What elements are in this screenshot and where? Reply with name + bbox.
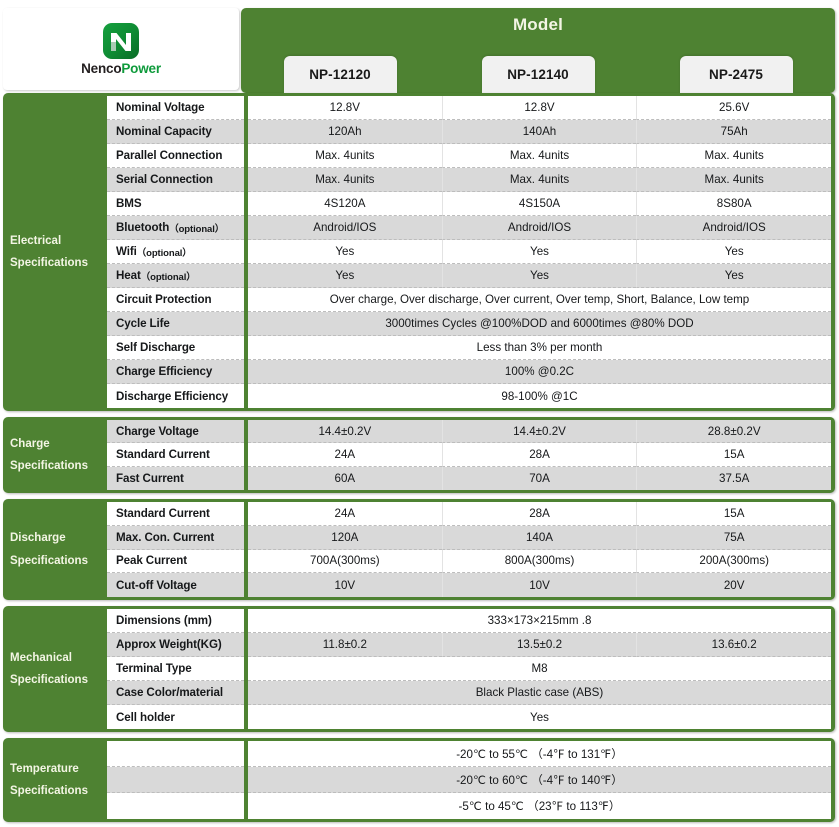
value-panel: 700A(300ms)800A(300ms)200A(300ms): [248, 550, 831, 574]
row-value-1: 140Ah: [442, 120, 637, 144]
spec-table: Standard Current24A28A15AMax. Con. Curre…: [107, 502, 831, 597]
spec-table: Nominal Voltage12.8V12.8V25.6VNominal Ca…: [107, 96, 831, 408]
row-label: Max. Con. Current: [107, 526, 244, 550]
row-value-1: 12.8V: [442, 96, 637, 120]
row-value-0: 700A(300ms): [248, 550, 442, 574]
row-label: Parallel Connection: [107, 144, 244, 168]
value-panel: YesYesYes: [248, 240, 831, 264]
row-label: [107, 793, 244, 819]
row-value-0: 4S120A: [248, 192, 442, 216]
row-label: Peak Current: [107, 550, 244, 574]
brand-name-part1: Nenco: [81, 61, 121, 76]
table-row: Standard Current24A28A15A: [107, 443, 831, 466]
row-value-merged: 333×173×215mm .8: [248, 609, 831, 633]
row-value-2: 200A(300ms): [636, 550, 831, 574]
section-label-line2: Specifications: [10, 669, 88, 691]
row-value-merged: -5℃ to 45℃ （23℉ to 113℉）: [248, 793, 831, 819]
spellcheck-underline: Wifi: [116, 245, 137, 258]
table-row: Peak Current700A(300ms)800A(300ms)200A(3…: [107, 550, 831, 574]
section-label-electrical: ElectricalSpecifications: [3, 93, 107, 411]
section-label-line1: Charge: [10, 433, 50, 455]
table-row: Parallel ConnectionMax. 4unitsMax. 4unit…: [107, 144, 831, 168]
row-label: Cell holder: [107, 705, 244, 729]
table-row: Serial ConnectionMax. 4unitsMax. 4unitsM…: [107, 168, 831, 192]
row-label: Cycle Life: [107, 312, 244, 336]
table-row: Fast Current60A70A37.5A: [107, 467, 831, 490]
row-value-1: 28A: [442, 443, 637, 466]
brand-name-part2: Power: [121, 61, 161, 76]
value-panel: Less than 3% per month: [248, 336, 831, 360]
row-label: Serial Connection: [107, 168, 244, 192]
row-value-0: 11.8±0.2: [248, 633, 442, 657]
section-label-mechanical: MechanicalSpecifications: [3, 606, 107, 732]
section-temperature: TemperatureSpecifications-20℃ to 55℃ （-4…: [3, 738, 835, 822]
value-panel: Black Plastic case (ABS): [248, 681, 831, 705]
row-label: Terminal Type: [107, 657, 244, 681]
row-label: Nominal Voltage: [107, 96, 244, 120]
row-value-1: 13.5±0.2: [442, 633, 637, 657]
section-charge: ChargeSpecificationsCharge Voltage14.4±0…: [3, 417, 835, 493]
value-panel: YesYesYes: [248, 264, 831, 288]
value-panel: 4S120A4S150A8S80A: [248, 192, 831, 216]
table-row: Approx Weight(KG)11.8±0.213.5±0.213.6±0.…: [107, 633, 831, 657]
row-value-1: 28A: [442, 502, 637, 526]
table-row: Self DischargeLess than 3% per month: [107, 336, 831, 360]
value-panel: 24A28A15A: [248, 502, 831, 526]
table-row: Max. Con. Current120A140A75A: [107, 526, 831, 550]
row-value-0: 120A: [248, 526, 442, 550]
value-panel: Max. 4unitsMax. 4unitsMax. 4units: [248, 144, 831, 168]
section-label-charge: ChargeSpecifications: [3, 417, 107, 493]
table-row: Discharge Efficiency98-100% @1C: [107, 384, 831, 408]
row-value-2: 25.6V: [636, 96, 831, 120]
row-value-1: 140A: [442, 526, 637, 550]
row-value-0: 10V: [248, 573, 442, 597]
value-panel: 14.4±0.2V14.4±0.2V28.8±0.2V: [248, 420, 831, 443]
row-value-1: 4S150A: [442, 192, 637, 216]
row-label: Circuit Protection: [107, 288, 244, 312]
row-value-1: 10V: [442, 573, 637, 597]
model-header-block: Model NP-12120 NP-12140 NP-2475: [241, 8, 835, 93]
row-label: [107, 741, 244, 767]
table-row: Charge Efficiency100% @0.2C: [107, 360, 831, 384]
value-panel: -20℃ to 55℃ （-4℉ to 131℉）: [248, 741, 831, 767]
row-label: Heat（optional）: [107, 264, 244, 288]
row-value-2: Yes: [636, 240, 831, 264]
row-label: BMS: [107, 192, 244, 216]
table-row: Circuit ProtectionOver charge, Over disc…: [107, 288, 831, 312]
value-panel: Android/IOSAndroid/IOSAndroid/IOS: [248, 216, 831, 240]
table-row: Dimensions (mm)333×173×215mm .8: [107, 609, 831, 633]
section-label-line1: Electrical: [10, 230, 61, 252]
row-value-merged: Yes: [248, 705, 831, 729]
row-value-merged: Less than 3% per month: [248, 336, 831, 360]
table-row: Case Color/materialBlack Plastic case (A…: [107, 681, 831, 705]
row-value-0: 12.8V: [248, 96, 442, 120]
section-label-temperature: TemperatureSpecifications: [3, 738, 107, 822]
section-label-line2: Specifications: [10, 455, 88, 477]
row-value-1: 14.4±0.2V: [442, 420, 637, 443]
nenco-n-logo-icon: [102, 22, 140, 60]
section-label-line2: Specifications: [10, 252, 88, 274]
row-value-2: 28.8±0.2V: [636, 420, 831, 443]
row-label: Dimensions (mm): [107, 609, 244, 633]
table-row: -20℃ to 55℃ （-4℉ to 131℉）: [107, 741, 831, 767]
table-row: Terminal TypeM8: [107, 657, 831, 681]
row-value-2: 8S80A: [636, 192, 831, 216]
table-row: Cell holderYes: [107, 705, 831, 729]
row-label: Standard Current: [107, 502, 244, 526]
value-panel: Max. 4unitsMax. 4unitsMax. 4units: [248, 168, 831, 192]
row-value-merged: -20℃ to 55℃ （-4℉ to 131℉）: [248, 741, 831, 767]
row-value-merged: M8: [248, 657, 831, 681]
table-row: -20℃ to 60℃ （-4℉ to 140℉）: [107, 767, 831, 793]
table-row: Cut-off Voltage10V10V20V: [107, 573, 831, 597]
row-label: Charge Efficiency: [107, 360, 244, 384]
row-value-1: 70A: [442, 467, 637, 490]
row-value-0: Max. 4units: [248, 168, 442, 192]
table-row: Cycle Life3000times Cycles @100%DOD and …: [107, 312, 831, 336]
row-label-text: Bluetooth: [116, 221, 169, 234]
row-value-0: 24A: [248, 443, 442, 466]
value-panel: Yes: [248, 705, 831, 729]
row-value-1: 800A(300ms): [442, 550, 637, 574]
value-panel: 120Ah140Ah75Ah: [248, 120, 831, 144]
table-row: Wifi （optional）YesYesYes: [107, 240, 831, 264]
brand-wordmark: NencoPower: [81, 61, 161, 76]
row-value-0: 60A: [248, 467, 442, 490]
value-panel: 60A70A37.5A: [248, 467, 831, 490]
table-row: Nominal Voltage12.8V12.8V25.6V: [107, 96, 831, 120]
section-label-line1: Temperature: [10, 758, 79, 780]
row-value-2: Max. 4units: [636, 144, 831, 168]
row-value-0: Android/IOS: [248, 216, 442, 240]
section-label-line2: Specifications: [10, 780, 88, 802]
row-label-optional-note: （optional）: [141, 269, 196, 283]
row-label-optional-note: （optional）: [169, 221, 224, 235]
row-label: Discharge Efficiency: [107, 384, 244, 408]
row-value-merged: 98-100% @1C: [248, 384, 831, 408]
section-label-line2: Specifications: [10, 550, 88, 572]
spec-sheet: NencoPower Model NP-12120 NP-12140 NP-24…: [0, 0, 839, 827]
value-panel: 12.8V12.8V25.6V: [248, 96, 831, 120]
value-panel: 10V10V20V: [248, 573, 831, 597]
brand-logo-box: NencoPower: [3, 8, 239, 90]
row-value-0: Yes: [248, 240, 442, 264]
row-value-2: Yes: [636, 264, 831, 288]
table-row: Heat（optional）YesYesYes: [107, 264, 831, 288]
row-value-1: Max. 4units: [442, 144, 637, 168]
table-row: Bluetooth（optional）Android/IOSAndroid/IO…: [107, 216, 831, 240]
row-label: Bluetooth（optional）: [107, 216, 244, 240]
value-panel: 100% @0.2C: [248, 360, 831, 384]
row-value-2: 37.5A: [636, 467, 831, 490]
row-label: [107, 767, 244, 793]
value-panel: 11.8±0.213.5±0.213.6±0.2: [248, 633, 831, 657]
row-value-merged: Black Plastic case (ABS): [248, 681, 831, 705]
row-label: Case Color/material: [107, 681, 244, 705]
row-value-merged: 100% @0.2C: [248, 360, 831, 384]
row-label: Charge Voltage: [107, 420, 244, 443]
spec-table: Dimensions (mm)333×173×215mm .8Approx We…: [107, 609, 831, 729]
row-value-2: Android/IOS: [636, 216, 831, 240]
spec-table: Charge Voltage14.4±0.2V14.4±0.2V28.8±0.2…: [107, 420, 831, 490]
row-value-2: Max. 4units: [636, 168, 831, 192]
value-panel: -20℃ to 60℃ （-4℉ to 140℉）: [248, 767, 831, 793]
row-value-2: 15A: [636, 443, 831, 466]
table-row: Standard Current24A28A15A: [107, 502, 831, 526]
value-panel: Over charge, Over discharge, Over curren…: [248, 288, 831, 312]
row-value-merged: Over charge, Over discharge, Over curren…: [248, 288, 831, 312]
value-panel: M8: [248, 657, 831, 681]
section-label-line1: Mechanical: [10, 647, 72, 669]
value-panel: -5℃ to 45℃ （23℉ to 113℉）: [248, 793, 831, 819]
value-panel: 120A140A75A: [248, 526, 831, 550]
table-row: Nominal Capacity120Ah140Ah75Ah: [107, 120, 831, 144]
row-label: Fast Current: [107, 467, 244, 490]
row-label: Wifi （optional）: [107, 240, 244, 264]
row-value-2: 75A: [636, 526, 831, 550]
row-value-2: 15A: [636, 502, 831, 526]
spec-table: -20℃ to 55℃ （-4℉ to 131℉）-20℃ to 60℃ （-4…: [107, 741, 831, 819]
row-value-0: 120Ah: [248, 120, 442, 144]
row-value-merged: 3000times Cycles @100%DOD and 6000times …: [248, 312, 831, 336]
model-tab-row: NP-12120 NP-12140 NP-2475: [241, 56, 835, 93]
model-tab-2[interactable]: NP-2475: [680, 56, 793, 93]
value-panel: 98-100% @1C: [248, 384, 831, 408]
row-value-1: Yes: [442, 264, 637, 288]
model-tab-1[interactable]: NP-12140: [482, 56, 595, 93]
model-tab-0[interactable]: NP-12120: [284, 56, 397, 93]
section-mechanical: MechanicalSpecificationsDimensions (mm)3…: [3, 606, 835, 732]
value-panel: 24A28A15A: [248, 443, 831, 466]
row-value-1: Max. 4units: [442, 168, 637, 192]
row-label-text: Heat: [116, 269, 141, 282]
row-label: Self Discharge: [107, 336, 244, 360]
table-row: -5℃ to 45℃ （23℉ to 113℉）: [107, 793, 831, 819]
row-label-optional-note: （optional）: [137, 245, 192, 259]
table-row: BMS4S120A4S150A8S80A: [107, 192, 831, 216]
row-value-1: Yes: [442, 240, 637, 264]
table-row: Charge Voltage14.4±0.2V14.4±0.2V28.8±0.2…: [107, 420, 831, 443]
row-label: Standard Current: [107, 443, 244, 466]
value-panel: 333×173×215mm .8: [248, 609, 831, 633]
section-discharge: DischargeSpecificationsStandard Current2…: [3, 499, 835, 600]
row-value-2: 20V: [636, 573, 831, 597]
row-value-1: Android/IOS: [442, 216, 637, 240]
row-value-0: Max. 4units: [248, 144, 442, 168]
value-panel: 3000times Cycles @100%DOD and 6000times …: [248, 312, 831, 336]
row-value-0: 14.4±0.2V: [248, 420, 442, 443]
row-value-0: Yes: [248, 264, 442, 288]
section-electrical: ElectricalSpecificationsNominal Voltage1…: [3, 93, 835, 411]
row-label: Approx Weight(KG): [107, 633, 244, 657]
row-value-2: 75Ah: [636, 120, 831, 144]
section-label-line1: Discharge: [10, 527, 66, 549]
row-value-0: 24A: [248, 502, 442, 526]
row-value-2: 13.6±0.2: [636, 633, 831, 657]
row-value-merged: -20℃ to 60℃ （-4℉ to 140℉）: [248, 767, 831, 793]
row-label: Cut-off Voltage: [107, 573, 244, 597]
row-label: Nominal Capacity: [107, 120, 244, 144]
section-label-discharge: DischargeSpecifications: [3, 499, 107, 600]
page-title: Model: [241, 8, 835, 35]
